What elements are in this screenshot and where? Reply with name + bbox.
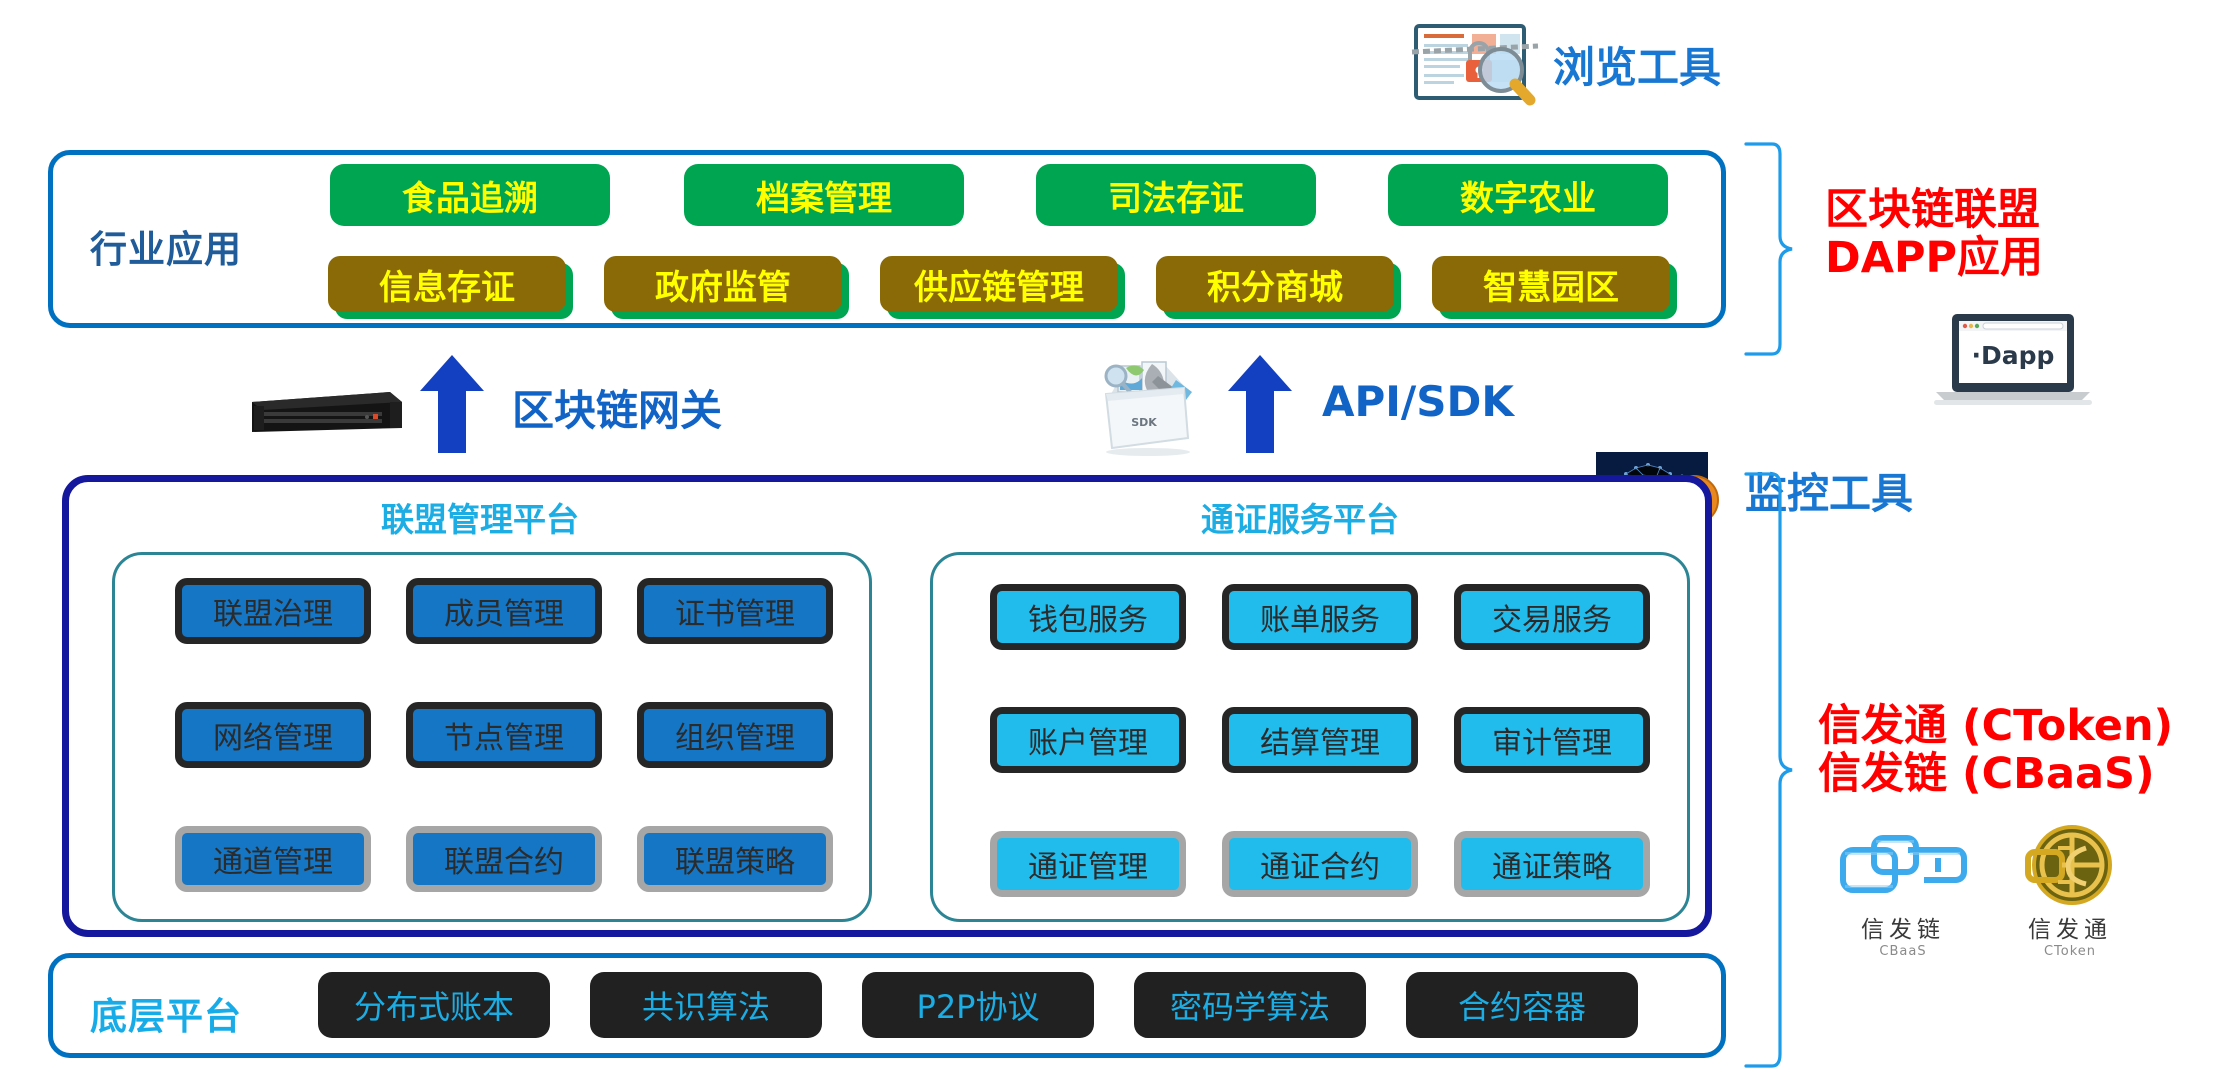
module-wallet-service[interactable]: 钱包服务 xyxy=(990,584,1186,650)
module-alliance-contract[interactable]: 联盟合约 xyxy=(406,826,602,892)
chain-link-cb-icon xyxy=(1838,828,1968,904)
app-tile-supply-chain-management[interactable]: 供应链管理 xyxy=(880,256,1118,312)
module-channel-management[interactable]: 通道管理 xyxy=(175,826,371,892)
webpage-lock-magnifier-icon xyxy=(1410,18,1540,108)
apisdk-up-arrow xyxy=(1226,355,1294,453)
app-tile-info-deposit[interactable]: 信息存证 xyxy=(328,256,566,312)
product-annotation-line1: 信发通 (CToken) xyxy=(1818,702,2173,750)
app-tile-points-mall[interactable]: 积分商城 xyxy=(1156,256,1394,312)
gateway-label: 区块链网关 xyxy=(512,377,722,438)
base-tile-consensus-algorithm[interactable]: 共识算法 xyxy=(590,972,822,1038)
dapp-annotation-line2: DAPP应用 xyxy=(1825,234,2043,282)
platform-base-brace xyxy=(1742,470,1798,1070)
module-network-management[interactable]: 网络管理 xyxy=(175,702,371,768)
gold-coin-icon xyxy=(2022,824,2114,906)
gateway-up-arrow xyxy=(418,355,486,453)
app-tile-archive-management[interactable]: 档案管理 xyxy=(684,164,964,226)
diagram-canvas: 浏览工具 行业应用 食品追溯 档案管理 司法存证 数字农业 信息存证 政府监管 … xyxy=(0,0,2218,1092)
sdk-box-icon: SDK xyxy=(1090,358,1202,456)
dapp-annotation: 区块链联盟 DAPP应用 xyxy=(1825,186,2043,282)
app-tile-government-supervision[interactable]: 政府监管 xyxy=(604,256,842,312)
app-tile-food-traceability[interactable]: 食品追溯 xyxy=(330,164,610,226)
module-node-management[interactable]: 节点管理 xyxy=(406,702,602,768)
laptop-dapp-icon: ·Dapp xyxy=(1930,310,2096,406)
module-certificate-management[interactable]: 证书管理 xyxy=(637,578,833,644)
module-audit-management[interactable]: 审计管理 xyxy=(1454,707,1650,773)
module-organization-management[interactable]: 组织管理 xyxy=(637,702,833,768)
alliance-platform-title: 联盟管理平台 xyxy=(270,493,690,541)
app-tile-smart-park[interactable]: 智慧园区 xyxy=(1432,256,1670,312)
svg-text:·Dapp: ·Dapp xyxy=(1972,341,2055,370)
ctoken-logo-sub: CToken xyxy=(1995,944,2145,959)
module-account-management[interactable]: 账户管理 xyxy=(990,707,1186,773)
module-alliance-policy[interactable]: 联盟策略 xyxy=(637,826,833,892)
module-billing-service[interactable]: 账单服务 xyxy=(1222,584,1418,650)
module-token-contract[interactable]: 通证合约 xyxy=(1222,831,1418,897)
product-annotation-line2: 信发链 (CBaaS) xyxy=(1818,750,2173,798)
dapp-annotation-line1: 区块链联盟 xyxy=(1825,186,2043,234)
cbaas-logo-name: 信发链 xyxy=(1823,910,1983,944)
module-settlement-management[interactable]: 结算管理 xyxy=(1222,707,1418,773)
base-tile-distributed-ledger[interactable]: 分布式账本 xyxy=(318,972,550,1038)
base-layer-label: 底层平台 xyxy=(90,986,242,1040)
application-layer-brace xyxy=(1742,140,1798,358)
app-tile-digital-agriculture[interactable]: 数字农业 xyxy=(1388,164,1668,226)
cbaas-logo-sub: CBaaS xyxy=(1823,944,1983,959)
browser-tool-label: 浏览工具 xyxy=(1553,34,1721,95)
apisdk-label: API/SDK xyxy=(1322,377,1514,426)
svg-text:SDK: SDK xyxy=(1131,416,1157,429)
server-rack-icon xyxy=(240,380,410,440)
module-alliance-governance[interactable]: 联盟治理 xyxy=(175,578,371,644)
base-tile-p2p-protocol[interactable]: P2P协议 xyxy=(862,972,1094,1038)
module-member-management[interactable]: 成员管理 xyxy=(406,578,602,644)
module-transaction-service[interactable]: 交易服务 xyxy=(1454,584,1650,650)
module-token-management[interactable]: 通证管理 xyxy=(990,831,1186,897)
app-tile-judicial-deposit[interactable]: 司法存证 xyxy=(1036,164,1316,226)
product-annotation: 信发通 (CToken) 信发链 (CBaaS) xyxy=(1818,702,2173,798)
module-token-policy[interactable]: 通证策略 xyxy=(1454,831,1650,897)
base-tile-cryptography-algorithm[interactable]: 密码学算法 xyxy=(1134,972,1366,1038)
ctoken-logo-name: 信发通 xyxy=(1995,910,2145,944)
base-tile-contract-container[interactable]: 合约容器 xyxy=(1406,972,1638,1038)
token-platform-title: 通证服务平台 xyxy=(1090,493,1510,541)
application-layer-label: 行业应用 xyxy=(90,219,242,273)
